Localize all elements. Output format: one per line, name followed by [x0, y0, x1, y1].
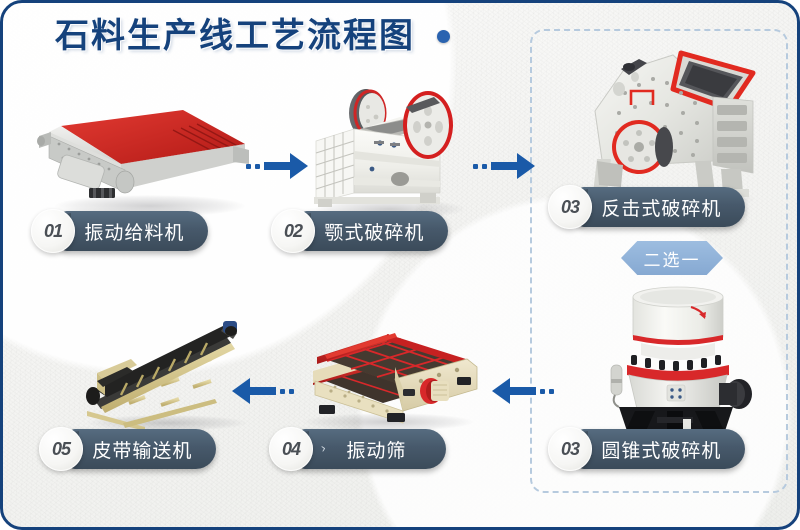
step-number-badge: 04 [269, 427, 313, 471]
chevron-right-icon: › [319, 440, 327, 456]
arrow-dot [255, 164, 260, 169]
step-name-label: 振动给料机 [84, 218, 184, 245]
arrow-dot [540, 389, 545, 394]
arrow-head [517, 153, 535, 179]
arrow-head [290, 153, 308, 179]
arrow-dot [473, 164, 478, 169]
arrow-feeder-to-jaw [246, 153, 308, 179]
flowchart-canvas: 石料生产线工艺流程图 二选一 [0, 0, 800, 530]
step-label-02[interactable]: 02 › 颚式破碎机 [271, 209, 448, 253]
arrow-head [492, 378, 510, 404]
step-name-label: 颚式破碎机 [324, 218, 424, 245]
step-name-label: 反击式破碎机 [601, 194, 721, 221]
step-name-pill[interactable]: › 振动给料机 [61, 211, 208, 251]
step-name-pill[interactable]: › 颚式破碎机 [301, 211, 448, 251]
step-number-badge: 03 [548, 427, 592, 471]
vibrating-feeder-icon [33, 98, 258, 208]
arrow-dot [280, 389, 285, 394]
step-label-05[interactable]: 05 › 皮带输送机 [39, 427, 216, 471]
arrow-head [232, 378, 250, 404]
arrow-jaw-to-crusher [473, 153, 535, 179]
cone-crusher-icon [583, 281, 773, 446]
step-name-pill[interactable]: › 振动筛 [299, 429, 446, 469]
step-label-03-cone[interactable]: 03 › 圆锥式破碎机 [548, 427, 745, 471]
arrow-shaft [250, 387, 276, 395]
title-dot-icon [437, 30, 450, 43]
step-number-badge: 05 [39, 427, 83, 471]
choose-one-badge: 二选一 [621, 241, 723, 275]
arrow-dot [289, 389, 294, 394]
arrow-shaft [264, 162, 290, 170]
step-label-03-impact[interactable]: 03 › 反击式破碎机 [548, 185, 745, 229]
step-number-badge: 01 [31, 209, 75, 253]
arrow-dot [246, 164, 251, 169]
arrow-dot [482, 164, 487, 169]
jaw-crusher-icon [308, 81, 473, 211]
arrow-shaft [491, 162, 517, 170]
arrow-screen-to-conveyor [232, 378, 294, 404]
step-name-label: 振动筛 [346, 436, 406, 463]
arrow-shaft [510, 387, 536, 395]
step-label-04[interactable]: 04 › 振动筛 [269, 427, 446, 471]
title-block: 石料生产线工艺流程图 [55, 19, 450, 53]
arrow-dot [549, 389, 554, 394]
page-title: 石料生产线工艺流程图 [55, 19, 415, 53]
vibrating-screen-icon [291, 315, 491, 427]
step-name-pill[interactable]: › 皮带输送机 [69, 429, 216, 469]
step-name-label: 皮带输送机 [92, 436, 192, 463]
belt-conveyor-icon [75, 303, 260, 433]
impact-crusher-icon [563, 41, 778, 206]
choose-one-label: 二选一 [644, 246, 701, 271]
step-name-pill[interactable]: › 圆锥式破碎机 [578, 429, 745, 469]
step-label-01[interactable]: 01 › 振动给料机 [31, 209, 208, 253]
step-name-label: 圆锥式破碎机 [601, 436, 721, 463]
arrow-crusher-to-screen [492, 378, 554, 404]
step-number-badge: 02 [271, 209, 315, 253]
step-name-pill[interactable]: › 反击式破碎机 [578, 187, 745, 227]
step-number-badge: 03 [548, 185, 592, 229]
